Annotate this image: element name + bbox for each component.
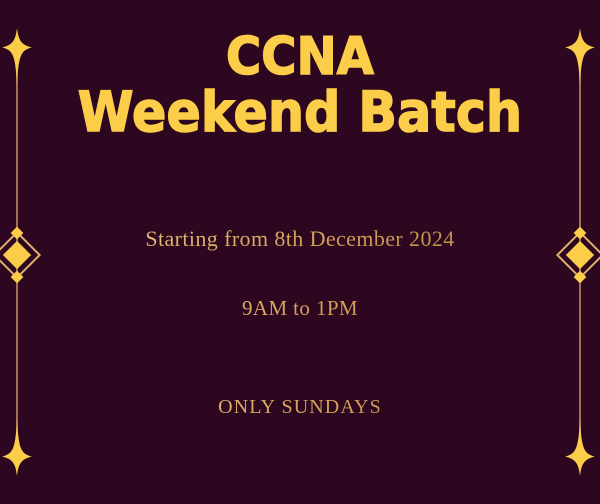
- title-line-2: Weekend Batch: [24, 86, 576, 139]
- start-date-text: Starting from 8th December 2024: [0, 226, 600, 252]
- bead-bottom-icon: [11, 271, 24, 284]
- poster-canvas: CCNA Weekend Batch Starting from 8th Dec…: [0, 0, 600, 504]
- poster-title: CCNA Weekend Batch: [0, 32, 600, 140]
- sparkle-bottom-icon: [2, 418, 32, 476]
- time-text: 9AM to 1PM: [0, 296, 600, 321]
- title-line-1: CCNA: [24, 32, 576, 82]
- bead-bottom-icon: [574, 271, 587, 284]
- sparkle-bottom-icon: [565, 418, 595, 476]
- days-text: ONLY SUNDAYS: [0, 396, 600, 419]
